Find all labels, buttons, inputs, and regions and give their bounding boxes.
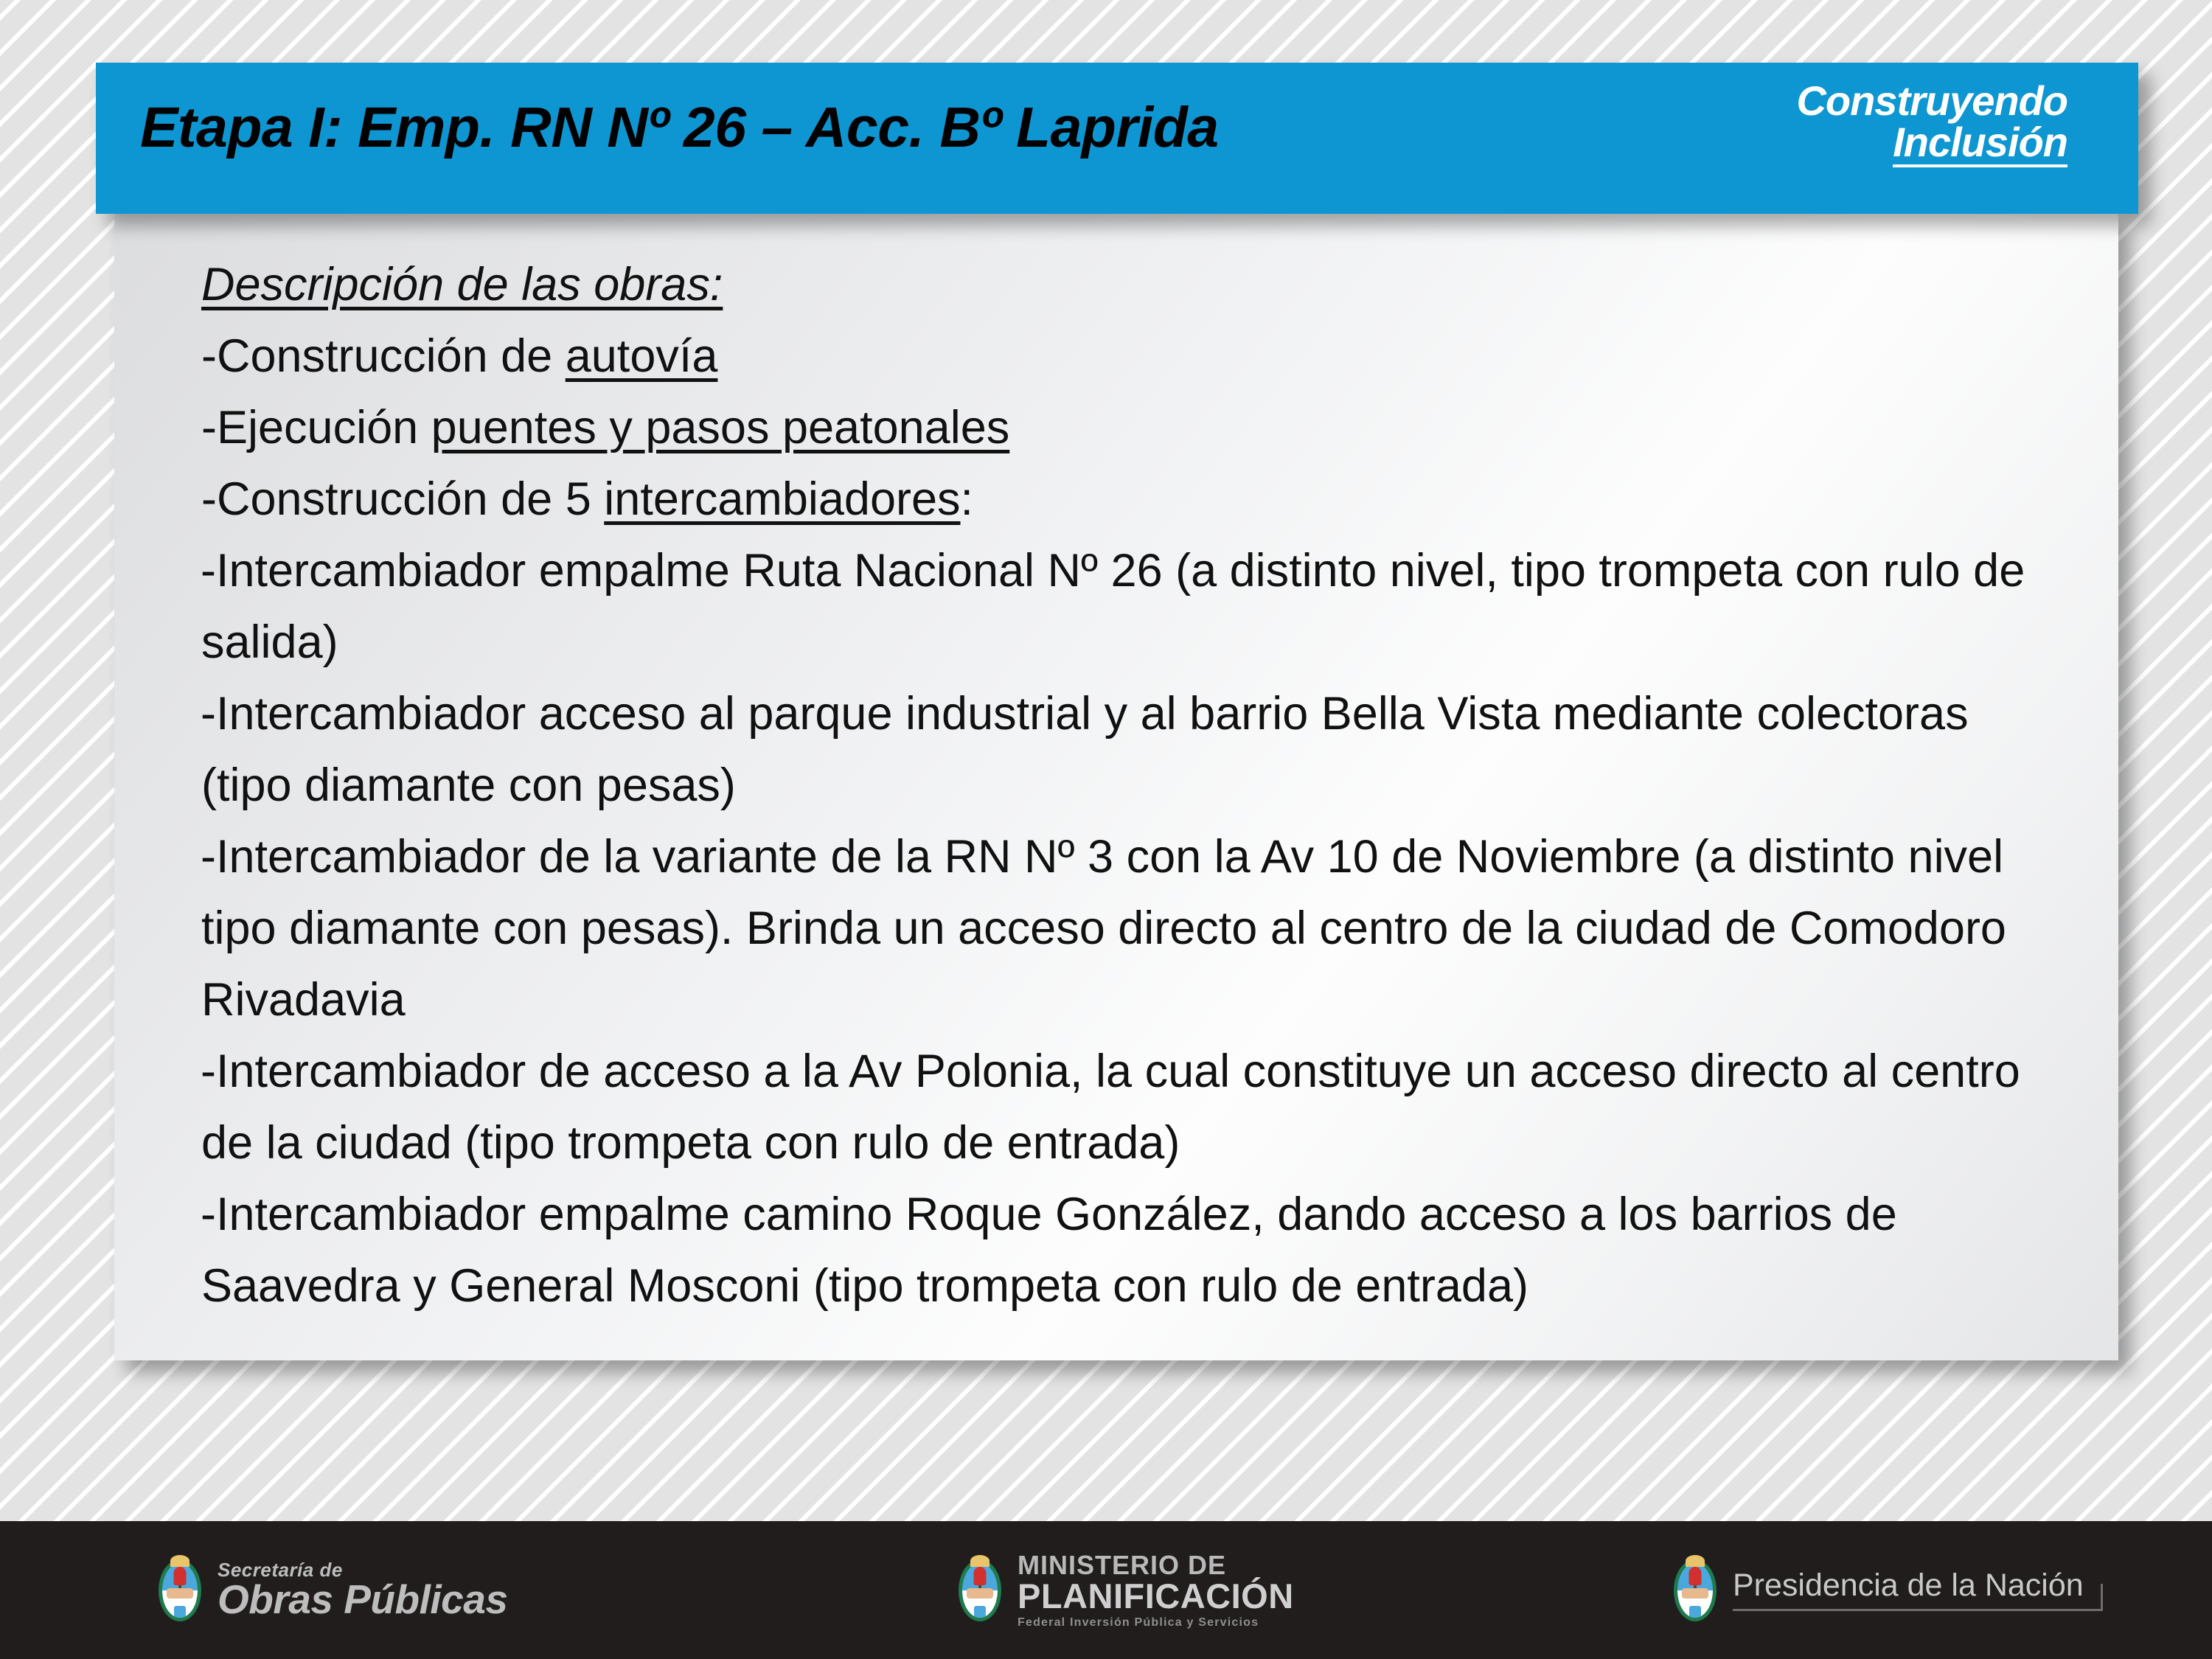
footer-bar: Secretaría de Obras Públicas MINISTERIO … [0,1521,2212,1659]
slide: Etapa I: Emp. RN Nº 26 – Acc. Bº Laprida… [0,0,2212,1659]
argentina-coat-of-arms-icon [959,1559,1001,1621]
bullet-underlined-term: intercambiadores [604,473,960,525]
argentina-coat-of-arms-icon [1674,1559,1717,1621]
logo-secretaria-obras-publicas: Secretaría de Obras Públicas [159,1559,507,1621]
ministerio-line2: PLANIFICACIÓN [1018,1579,1294,1613]
ministerio-line3: Federal Inversión Pública y Servicios [1018,1617,1294,1629]
content-panel: Descripción de las obras: -Construcción … [114,214,2118,1360]
bullet-underlined-term: autovía [566,330,718,382]
bullet-intercambiadores: -Construcción de 5 intercambiadores: [201,464,2067,535]
bullet-text: -Ejecución [201,402,431,453]
sub-bullet-roque-gonzalez: -Intercambiador empalme camino Roque Gon… [201,1179,2067,1322]
logo-ministerio-planificacion: MINISTERIO DE PLANIFICACIÓN Federal Inve… [959,1552,1294,1629]
presidencia-label: Presidencia de la Nación [1733,1570,2103,1611]
brand-line-construyendo: Construyendo [1796,80,2067,122]
sub-bullet-rn26: -Intercambiador empalme Ruta Nacional Nº… [201,535,2067,678]
ministerio-line1: MINISTERIO DE [1018,1552,1294,1579]
description-body: Descripción de las obras: -Construcción … [201,249,2067,1322]
sub-bullet-bella-vista: -Intercambiador acceso al parque industr… [201,678,2067,821]
sub-bullet-av-polonia: -Intercambiador de acceso a la Av Poloni… [201,1036,2067,1179]
bullet-underlined-term: puentes y pasos peatonales [431,402,1010,453]
brand-line-inclusion: Inclusión [1893,122,2067,167]
construyendo-inclusion-logo: Construyendo Inclusión [1796,80,2067,167]
sub-bullet-rn3-av10: -Intercambiador de la variante de la RN … [201,821,2067,1036]
secretaria-line2: Obras Públicas [218,1579,507,1620]
slide-header-bar: Etapa I: Emp. RN Nº 26 – Acc. Bº Laprida… [96,63,2138,214]
logo-presidencia-nacion: Presidencia de la Nación [1674,1559,2103,1621]
bullet-autovia: -Construcción de autovía [201,321,2067,392]
page-title: Etapa I: Emp. RN Nº 26 – Acc. Bº Laprida [140,95,1219,161]
bullet-text: -Construcción de 5 [201,473,604,525]
argentina-coat-of-arms-icon [159,1559,201,1621]
bullet-suffix: : [961,473,974,525]
bullet-puentes: -Ejecución puentes y pasos peatonales [201,392,2067,464]
section-heading: Descripción de las obras: [201,249,2067,321]
bullet-text: -Construcción de [201,330,566,382]
